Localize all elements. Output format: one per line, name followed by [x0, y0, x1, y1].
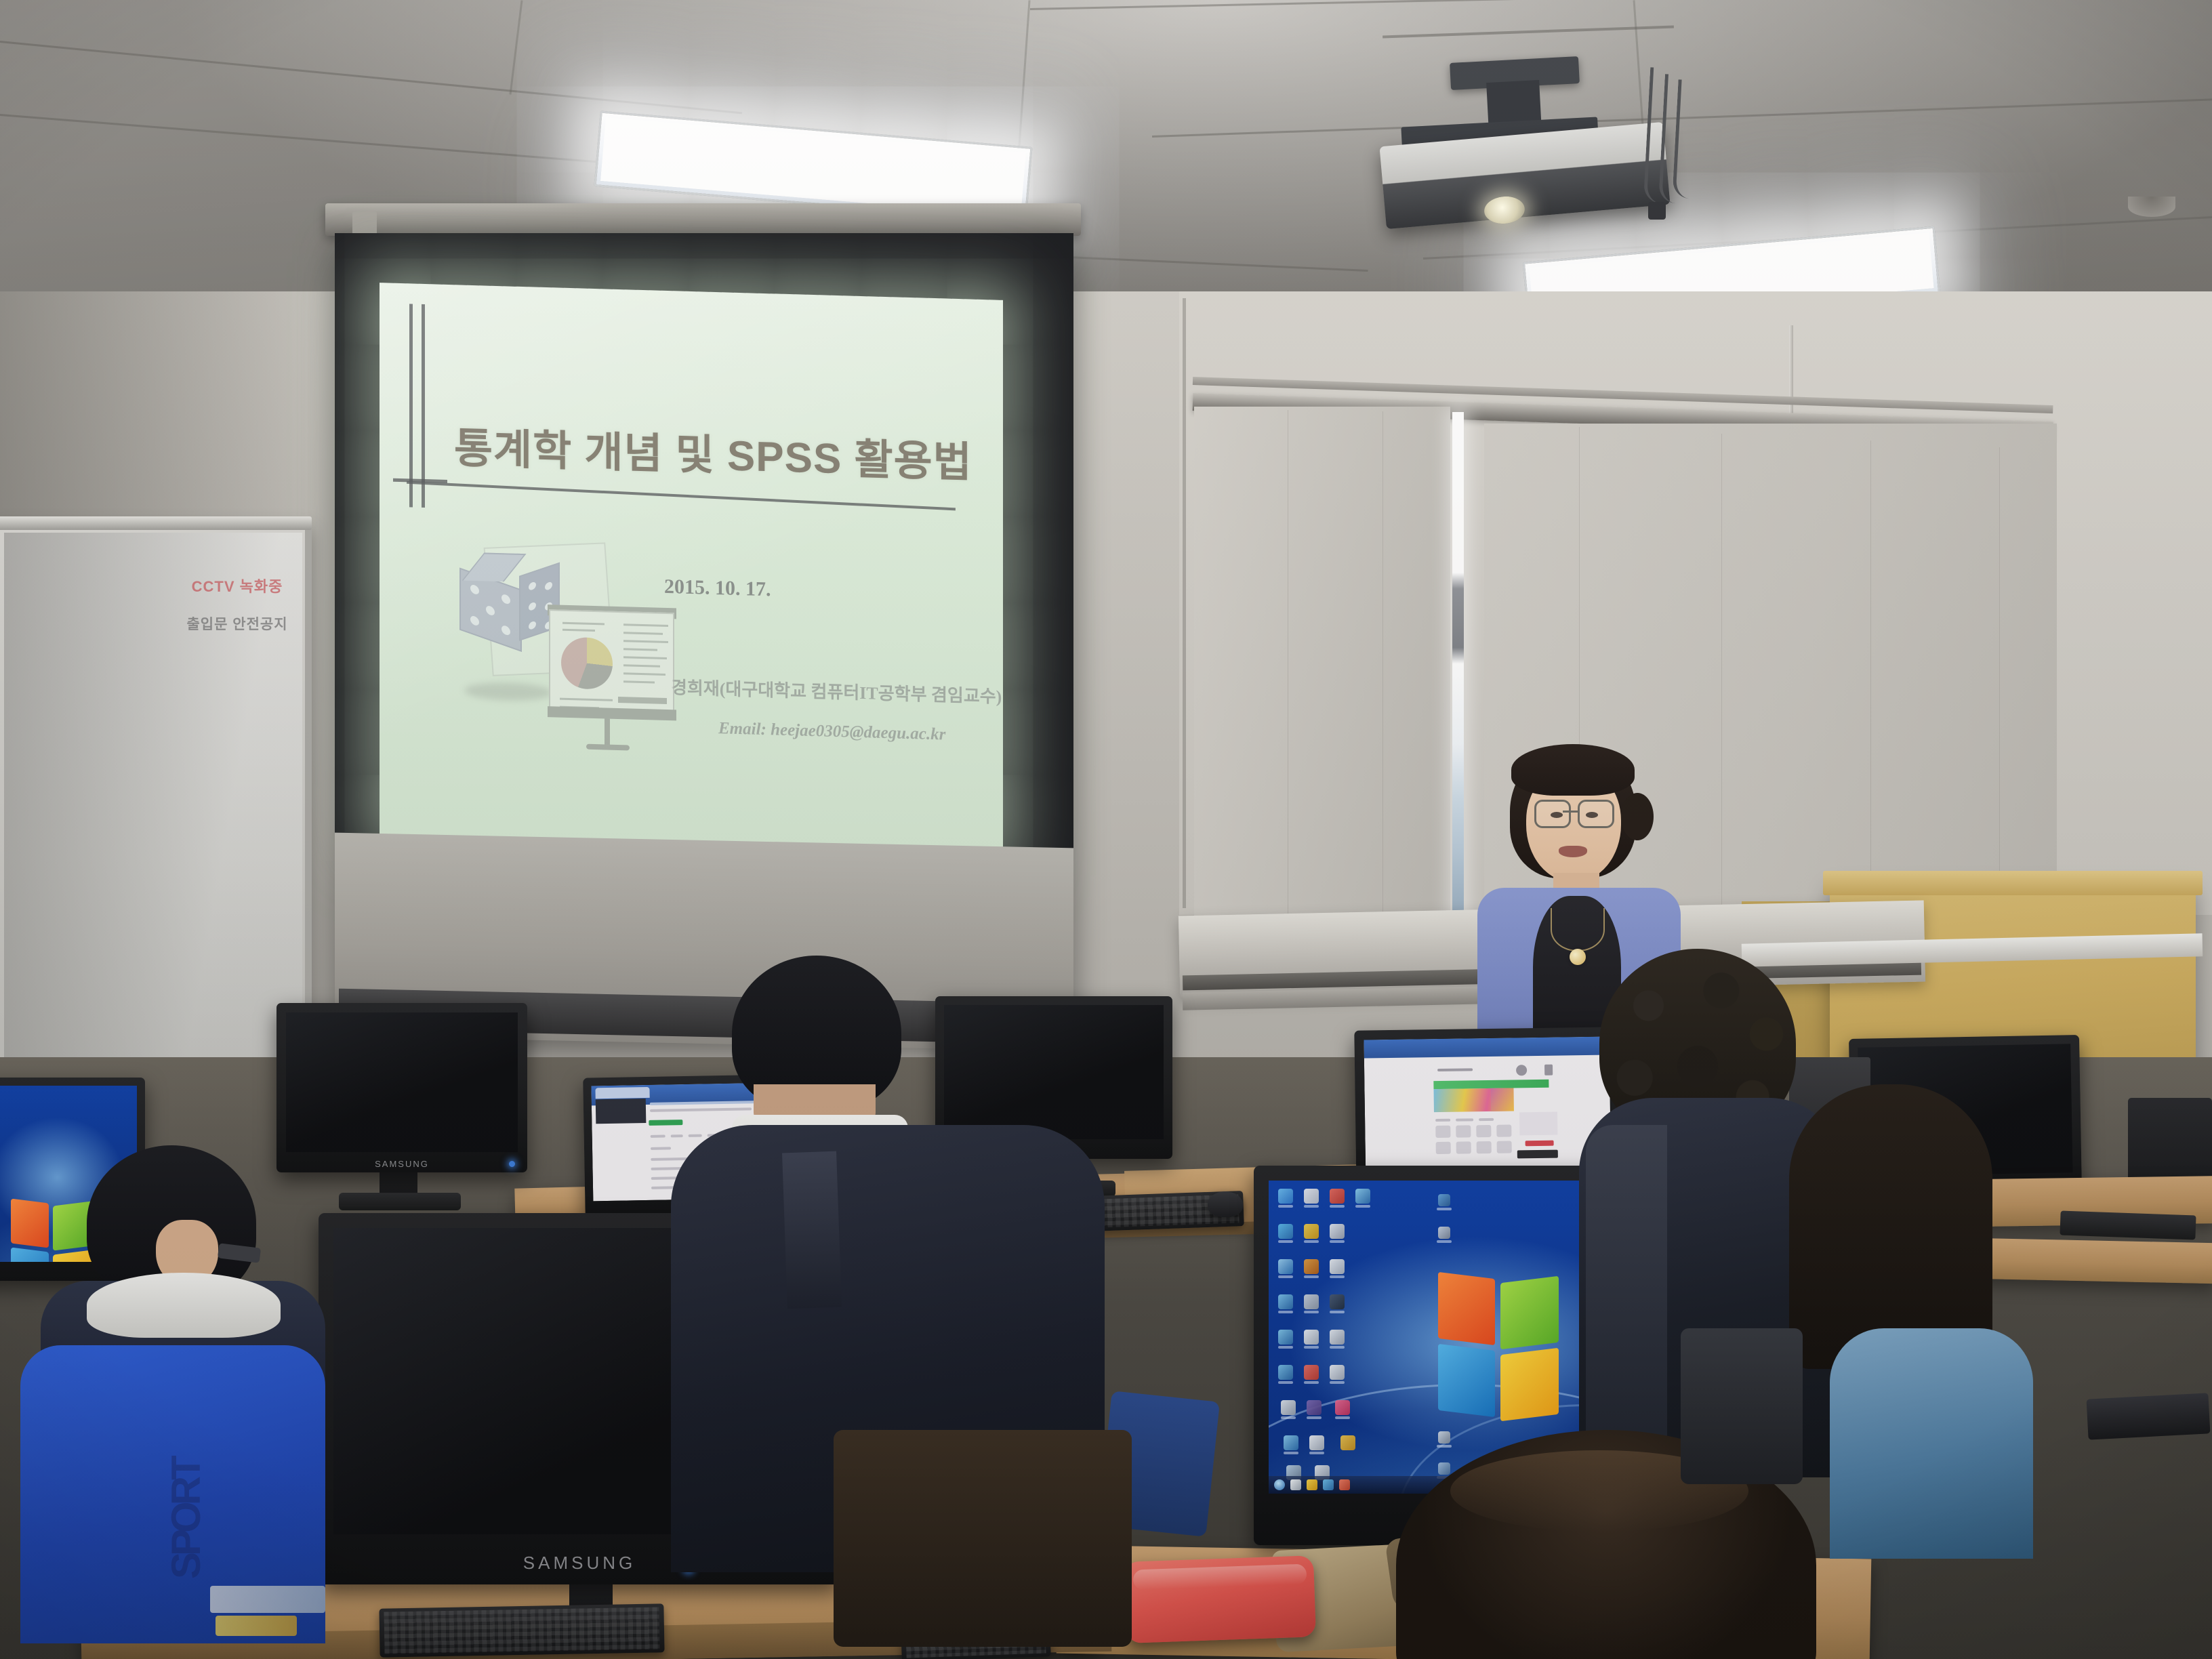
- cable-clamp: [1648, 202, 1666, 220]
- classroom-photo: 통계학 개념 및 SPSS 활용법 2015. 10. 17. 경희재(대구대학…: [0, 0, 2212, 1659]
- whiteboard-note: 출입문 안전공지: [169, 613, 305, 634]
- presenter-hair-bun: [1621, 793, 1654, 840]
- slide-title: 통계학 개념 및 SPSS 활용법: [454, 413, 969, 489]
- glasses-icon: [1578, 800, 1614, 828]
- browser-sidebar-panel: [596, 1099, 647, 1124]
- ceiling-vent-icon: [2128, 197, 2175, 217]
- projection-screen-housing: [325, 203, 1081, 236]
- student-long-hair: [1789, 1084, 1992, 1369]
- slide-affiliation: 경희재(대구대학교 컴퓨터IT공학부 겸임교수): [671, 674, 1002, 708]
- presenter-hair-front: [1511, 744, 1635, 796]
- browser-window[interactable]: [1364, 1036, 1611, 1181]
- keyboard[interactable]: [2087, 1393, 2211, 1439]
- backpack-strap: [1586, 1125, 1667, 1464]
- student-inner-collar: [87, 1273, 281, 1338]
- mouse[interactable]: [1208, 1191, 1243, 1217]
- whiteboard-top-rail: [0, 516, 312, 530]
- browser-tab[interactable]: [595, 1087, 649, 1099]
- browser-logo: [649, 1120, 682, 1126]
- desk-sticker: [216, 1616, 297, 1636]
- slide-accent-bar: [409, 304, 413, 507]
- chair[interactable]: [1681, 1328, 1803, 1484]
- glasses-bridge: [1563, 811, 1578, 813]
- hero-image: [1490, 1088, 1513, 1111]
- browser-icon[interactable]: [1544, 1065, 1553, 1076]
- easel-foot: [586, 744, 630, 751]
- pie-chart-icon: [561, 637, 613, 690]
- keyboard[interactable]: [2060, 1211, 2196, 1240]
- action-button[interactable]: [1517, 1150, 1558, 1159]
- easel-leg: [605, 718, 610, 747]
- lectern-top: [1823, 871, 2203, 895]
- monitor[interactable]: SAMSUNG: [276, 1003, 527, 1172]
- slide-email: Email: heejae0305@daegu.ac.kr: [718, 719, 945, 744]
- power-led: [509, 1161, 515, 1167]
- presentation-slide: 통계학 개념 및 SPSS 활용법 2015. 10. 17. 경희재(대구대학…: [380, 283, 1003, 856]
- monitor-stand-base: [339, 1193, 461, 1210]
- slide-accent-bar: [422, 304, 425, 508]
- blind-panel-left[interactable]: [1194, 407, 1450, 942]
- browser-chrome: [1364, 1036, 1609, 1058]
- chair[interactable]: [834, 1430, 1132, 1647]
- presenter-necklace-chain: [1551, 908, 1605, 951]
- daylight-gap: [1452, 412, 1464, 947]
- sidebar-box: [1519, 1112, 1557, 1136]
- browser-icon[interactable]: [1516, 1065, 1527, 1076]
- monitor-screen: [1364, 1036, 1611, 1181]
- presentation-chart-icon: [549, 609, 674, 714]
- student-tie: [782, 1151, 842, 1309]
- monitor-screen: [944, 1005, 1164, 1139]
- dice-shadow: [464, 682, 552, 702]
- cctv-notice: CCTV 녹화중: [169, 575, 305, 596]
- jacket-print: SPORT: [163, 1416, 194, 1579]
- notice-highlight: [1525, 1141, 1554, 1147]
- monitor-brand: SAMSUNG: [276, 1159, 527, 1169]
- monitor-screen: [286, 1012, 518, 1152]
- presenter-mouth: [1559, 846, 1587, 857]
- student-right-top: [1830, 1328, 2033, 1559]
- presenter-necklace-pendant: [1570, 949, 1586, 965]
- wall-seam: [1183, 298, 1186, 908]
- keyboard[interactable]: [379, 1603, 664, 1657]
- desk-sticker: [210, 1586, 325, 1613]
- slide-date: 2015. 10. 17.: [664, 575, 771, 601]
- slide-clipart: [447, 542, 671, 752]
- glasses-icon: [1534, 800, 1571, 828]
